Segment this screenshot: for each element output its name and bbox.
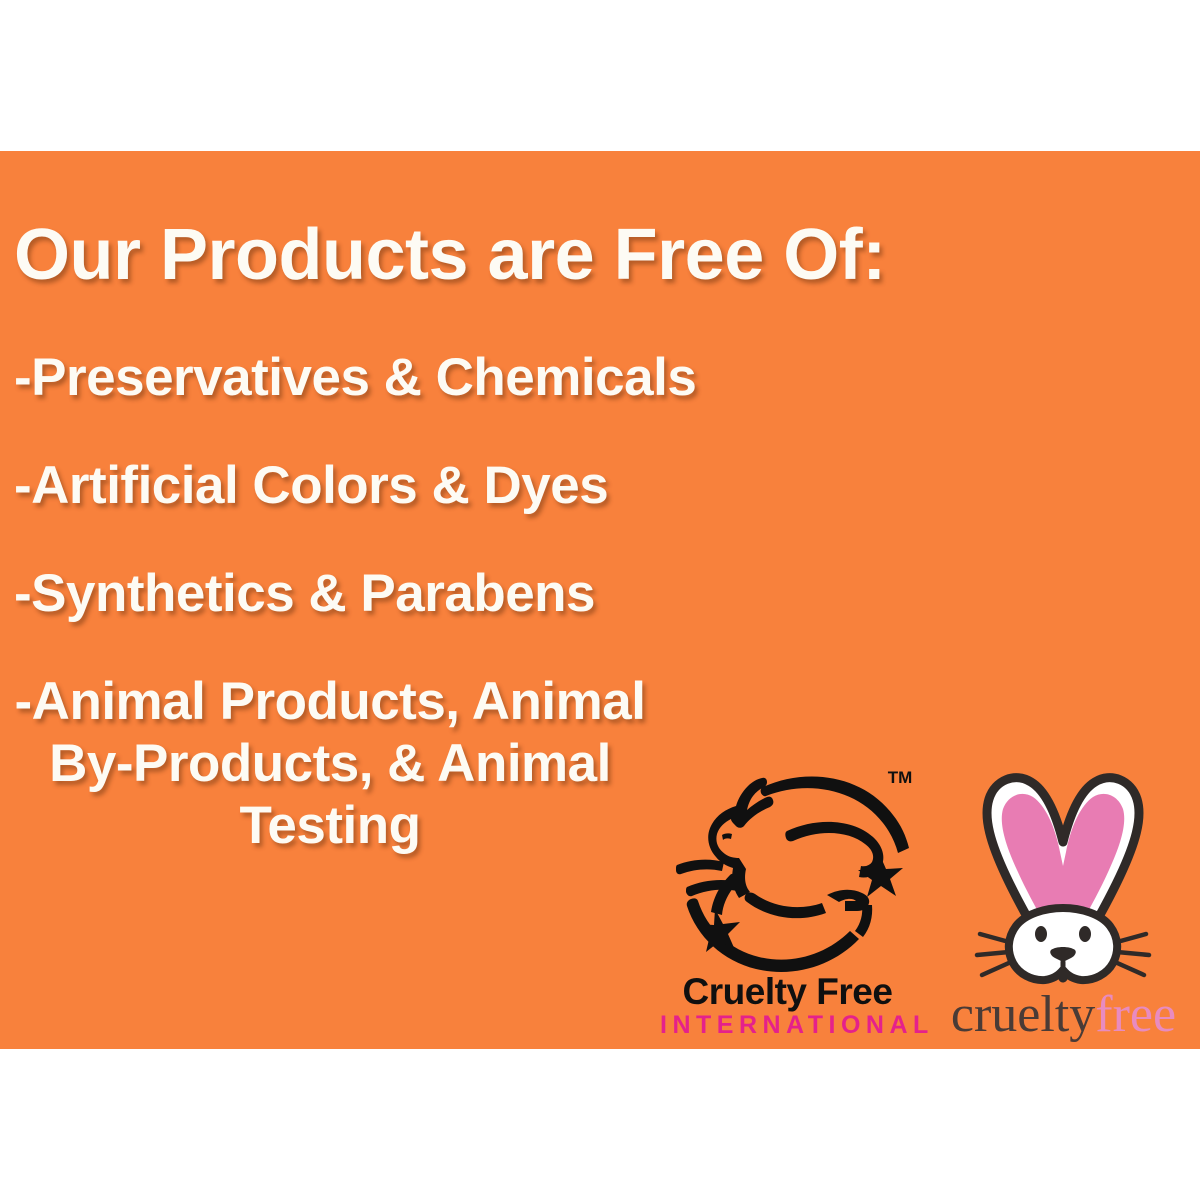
heart-eared-bunny-icon [961, 756, 1166, 1001]
list-item-label: -Preservatives & Chemicals [0, 347, 680, 409]
cfi-subname-label: INTERNATIONAL [655, 1011, 920, 1039]
list-item: -Synthetics & Parabens [0, 563, 680, 625]
poster-canvas: Our Products are Free Of: -Preservatives… [0, 0, 1200, 1200]
cfi-wordmark: Cruelty Free INTERNATIONAL [655, 973, 920, 1039]
cf-word-cruelty-label: cruelty [951, 986, 1095, 1043]
list-item-label: -Synthetics & Parabens [0, 563, 680, 625]
free-of-list: -Preservatives & Chemicals -Artificial C… [0, 347, 680, 903]
page-title: Our Products are Free Of: [14, 214, 886, 296]
cruelty-free-wordmark: crueltyfree [927, 988, 1200, 1042]
list-item-label: -Artificial Colors & Dyes [0, 455, 680, 517]
trademark-symbol: TM [888, 768, 913, 787]
list-item: -Artificial Colors & Dyes [0, 455, 680, 517]
cfi-name-label: Cruelty Free [655, 973, 920, 1011]
list-item-label: -Animal Products, Animal By-Products, & … [0, 671, 660, 857]
cf-word-free-label: free [1095, 986, 1176, 1043]
list-item: -Preservatives & Chemicals [0, 347, 680, 409]
cruelty-free-bunny-logo: crueltyfree [927, 756, 1200, 1049]
orange-banner: Our Products are Free Of: -Preservatives… [0, 151, 1200, 1049]
bunny-face [977, 908, 1149, 980]
cruelty-free-international-logo: TM Cruelty Free INTERNATIONAL [655, 761, 920, 1049]
logo-row: TM Cruelty Free INTERNATIONAL [655, 761, 1200, 1049]
leaping-bunny-icon: TM [667, 761, 917, 976]
list-item: -Animal Products, Animal By-Products, & … [0, 671, 680, 857]
